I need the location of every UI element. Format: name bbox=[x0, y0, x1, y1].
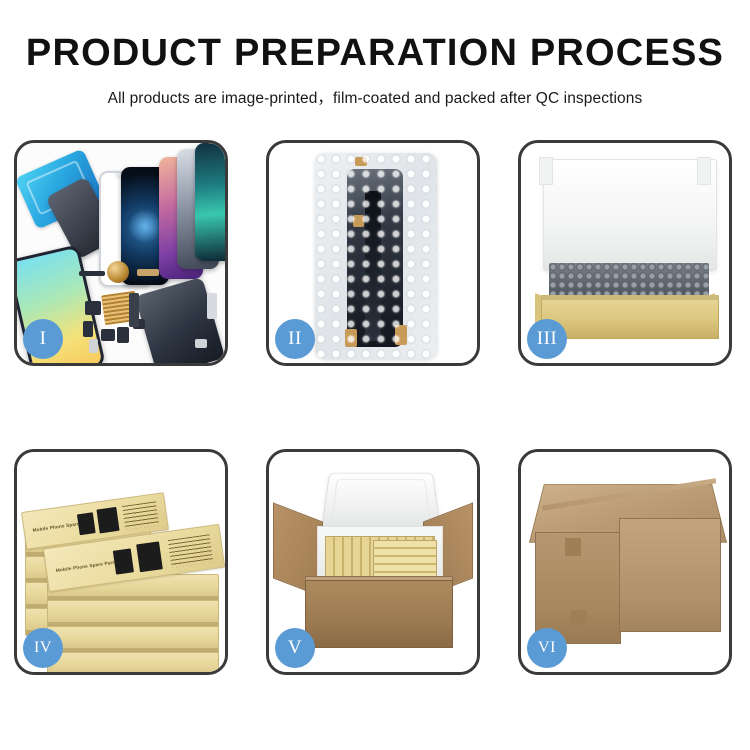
phone-teal bbox=[195, 143, 225, 261]
step-badge-2: II bbox=[275, 319, 315, 359]
tape-mark-top bbox=[565, 538, 581, 556]
step-numeral: IV bbox=[34, 639, 52, 657]
step-badge-1: I bbox=[23, 319, 63, 359]
flex-cable bbox=[137, 269, 159, 276]
step-panel-5[interactable]: V bbox=[266, 449, 480, 675]
small-part bbox=[101, 329, 115, 341]
step-badge-4: IV bbox=[23, 628, 63, 668]
step-numeral: III bbox=[537, 328, 557, 350]
box-brand-label: Mobile Phone Spare Parts bbox=[56, 559, 118, 573]
product-preparation-infographic: PRODUCT PREPARATION PROCESS All products… bbox=[0, 0, 750, 750]
tape-mark-bottom bbox=[571, 610, 587, 626]
small-part bbox=[195, 339, 207, 348]
step-badge-3: III bbox=[527, 319, 567, 359]
step-panel-1[interactable]: I bbox=[14, 140, 228, 366]
step-panel-2[interactable]: II bbox=[266, 140, 480, 366]
step-panel-4[interactable]: Mobile Phone Spare Parts Mobile Phone Sp… bbox=[14, 449, 228, 675]
step-panel-3[interactable]: III bbox=[518, 140, 732, 366]
page-subtitle: All products are image-printed，film-coat… bbox=[0, 86, 750, 108]
grey-foam-insert bbox=[549, 263, 709, 299]
kraft-box-base bbox=[541, 295, 719, 339]
step-numeral: V bbox=[288, 637, 302, 659]
step-numeral: II bbox=[288, 328, 302, 350]
flex-cable bbox=[129, 293, 139, 327]
step-numeral: I bbox=[40, 328, 47, 350]
step-numeral: VI bbox=[538, 639, 556, 657]
bubble-wrap-texture bbox=[315, 153, 437, 359]
small-part bbox=[83, 321, 93, 337]
step-badge-6: VI bbox=[527, 628, 567, 668]
small-part bbox=[89, 339, 98, 353]
page-title: PRODUCT PREPARATION PROCESS bbox=[0, 34, 750, 72]
small-part bbox=[79, 271, 105, 276]
small-part bbox=[117, 327, 129, 343]
lid-tab-right bbox=[697, 157, 711, 185]
lid-tab-left bbox=[539, 157, 553, 185]
carton-right-face bbox=[619, 518, 721, 632]
carton-body bbox=[305, 580, 453, 648]
header: PRODUCT PREPARATION PROCESS All products… bbox=[0, 0, 750, 108]
tweezers bbox=[207, 293, 217, 319]
small-part bbox=[85, 301, 101, 315]
kraft-boxes-inside bbox=[373, 540, 437, 580]
white-box-lid bbox=[543, 159, 717, 271]
step-badge-5: V bbox=[275, 628, 315, 668]
speaker-component bbox=[107, 261, 129, 283]
phone-back-housing bbox=[135, 277, 225, 363]
process-steps-grid: I II bbox=[14, 140, 736, 675]
step-panel-6[interactable]: VI bbox=[518, 449, 732, 675]
